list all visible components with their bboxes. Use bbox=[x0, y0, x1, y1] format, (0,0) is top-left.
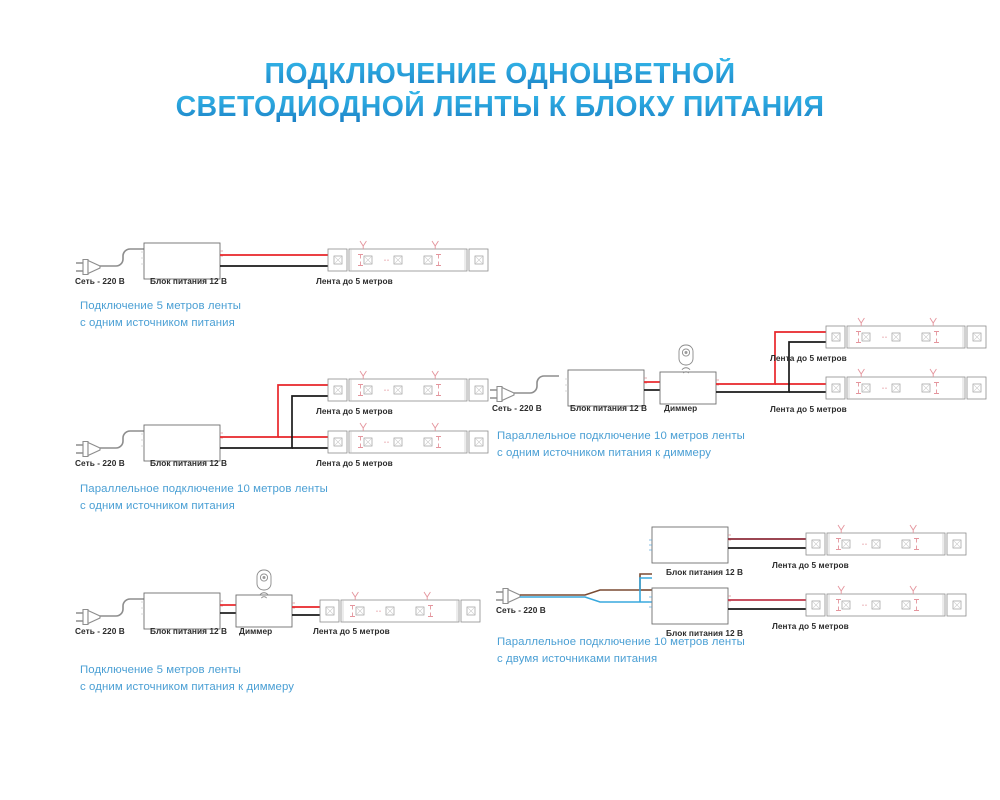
power-supply-unit bbox=[565, 370, 647, 406]
label-psu: Блок питания 12 В bbox=[150, 458, 227, 468]
label-mains: Сеть - 220 В bbox=[75, 458, 125, 468]
caption-two-strips-single-psu-parallel: Параллельное подключение 10 метров ленты… bbox=[80, 481, 328, 514]
diagram-single-strip-single-psu bbox=[76, 241, 488, 279]
caption-single-strip-single-psu: Подключение 5 метров ленты с одним источ… bbox=[80, 298, 241, 331]
caption-two-strips-two-psu-parallel: Параллельное подключение 10 метров ленты… bbox=[497, 634, 745, 667]
power-supply-unit bbox=[141, 243, 223, 279]
led-strip-component bbox=[806, 525, 966, 555]
caption-two-strips-psu-dimmer-parallel: Параллельное подключение 10 метров ленты… bbox=[497, 428, 745, 461]
power-supply-unit bbox=[141, 593, 223, 629]
label-strip: Лента до 5 метров bbox=[313, 626, 390, 636]
mains-plug-icon bbox=[490, 376, 559, 402]
led-strip-component bbox=[328, 371, 488, 401]
led-strip-component bbox=[806, 586, 966, 616]
mains-plug-icon bbox=[76, 249, 145, 275]
dimmer-unit bbox=[660, 372, 719, 404]
label-strip: Лента до 5 метров bbox=[770, 404, 847, 414]
label-strip: Лента до 5 метров bbox=[770, 353, 847, 363]
label-psu: Блок питания 12 В bbox=[150, 626, 227, 636]
label-dimmer: Диммер bbox=[664, 403, 697, 413]
diagram-two-strips-single-psu-parallel bbox=[76, 371, 488, 461]
diagram-two-strips-psu-dimmer-parallel bbox=[490, 318, 986, 406]
remote-control-icon bbox=[679, 345, 693, 373]
remote-control-icon bbox=[257, 570, 271, 598]
caption-single-strip-psu-dimmer: Подключение 5 метров ленты с одним источ… bbox=[80, 662, 294, 695]
power-supply-unit bbox=[649, 527, 731, 563]
led-strip-component bbox=[328, 241, 488, 271]
mains-plug-icon bbox=[76, 431, 145, 457]
dc-wire-positive bbox=[220, 385, 328, 437]
diagram-single-strip-psu-dimmer bbox=[76, 570, 480, 629]
label-psu: Блок питания 12 В bbox=[570, 403, 647, 413]
ac-wire-brown bbox=[520, 574, 652, 595]
label-strip: Лента до 5 метров bbox=[316, 406, 393, 416]
led-strip-component bbox=[826, 318, 986, 348]
label-strip: Лента до 5 метров bbox=[772, 621, 849, 631]
label-dimmer: Диммер bbox=[239, 626, 272, 636]
label-mains: Сеть - 220 В bbox=[75, 276, 125, 286]
label-strip: Лента до 5 метров bbox=[316, 458, 393, 468]
label-mains: Сеть - 220 В bbox=[492, 403, 542, 413]
dc-wire-negative bbox=[220, 396, 328, 448]
dimmer-unit bbox=[236, 595, 295, 627]
label-mains: Сеть - 220 В bbox=[75, 626, 125, 636]
mains-plug-icon bbox=[76, 599, 145, 625]
power-supply-unit bbox=[649, 588, 731, 624]
label-mains: Сеть - 220 В bbox=[496, 605, 546, 615]
label-psu: Блок питания 12 В bbox=[666, 567, 743, 577]
led-strip-component bbox=[328, 423, 488, 453]
label-strip: Лента до 5 метров bbox=[316, 276, 393, 286]
power-supply-unit bbox=[141, 425, 223, 461]
label-strip: Лента до 5 метров bbox=[772, 560, 849, 570]
mains-plug-icon bbox=[496, 589, 520, 604]
label-psu: Блок питания 12 В bbox=[150, 276, 227, 286]
led-strip-component bbox=[320, 592, 480, 622]
led-strip-component bbox=[826, 369, 986, 399]
